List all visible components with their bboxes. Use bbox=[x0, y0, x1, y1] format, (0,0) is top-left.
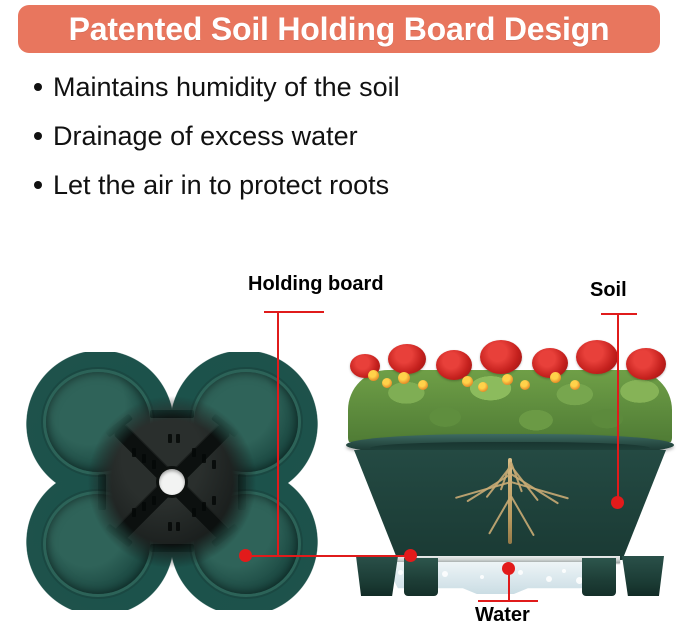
board-perforation bbox=[176, 434, 180, 443]
list-item: Let the air in to protect roots bbox=[28, 168, 588, 203]
flower-cluster bbox=[344, 330, 676, 442]
water-droplet bbox=[398, 570, 403, 575]
water-droplet bbox=[480, 575, 484, 579]
board-perforation bbox=[212, 460, 216, 469]
center-drain-hole bbox=[159, 469, 185, 495]
flower-bloom bbox=[576, 340, 618, 374]
water-droplet bbox=[562, 569, 566, 573]
board-perforation bbox=[132, 448, 136, 457]
board-perforation bbox=[192, 508, 196, 517]
feature-text: Let the air in to protect roots bbox=[53, 168, 389, 203]
board-perforation bbox=[202, 454, 206, 463]
board-vent bbox=[98, 474, 106, 510]
feature-text: Drainage of excess water bbox=[53, 119, 358, 154]
water-droplet bbox=[442, 571, 448, 577]
flower-bud bbox=[418, 380, 428, 390]
page-title: Patented Soil Holding Board Design bbox=[69, 13, 610, 45]
leader-dot-holding-board-right bbox=[404, 549, 417, 562]
callout-label-holding-board: Holding board bbox=[248, 274, 384, 294]
leader-stem-holding-board bbox=[277, 311, 279, 556]
flower-bud bbox=[478, 382, 488, 392]
board-perforation bbox=[212, 496, 216, 505]
flower-bud bbox=[550, 372, 561, 383]
board-perforation bbox=[152, 460, 156, 469]
flower-bloom bbox=[388, 344, 426, 374]
water-droplet bbox=[518, 570, 523, 575]
flower-bud bbox=[462, 376, 473, 387]
flower-bud bbox=[382, 378, 392, 388]
list-item: Drainage of excess water bbox=[28, 119, 588, 154]
leader-dot-holding-board-left bbox=[239, 549, 252, 562]
header-banner: Patented Soil Holding Board Design bbox=[18, 5, 660, 53]
board-perforation bbox=[192, 448, 196, 457]
leader-dot-soil bbox=[611, 496, 624, 509]
bullet-dot-icon bbox=[34, 132, 42, 140]
flower-bloom bbox=[480, 340, 522, 374]
board-vent bbox=[150, 410, 194, 418]
bullet-dot-icon bbox=[34, 83, 42, 91]
callout-label-soil: Soil bbox=[590, 280, 627, 300]
board-perforation bbox=[176, 522, 180, 531]
leader-stem-soil bbox=[617, 313, 619, 503]
leader-cross-holding-board bbox=[246, 555, 416, 557]
board-perforation bbox=[168, 522, 172, 531]
soil-layer bbox=[371, 456, 649, 554]
flower-bud bbox=[398, 372, 410, 384]
flower-bud bbox=[570, 380, 580, 390]
board-vent bbox=[238, 474, 246, 510]
board-perforation bbox=[132, 508, 136, 517]
flower-bloom bbox=[626, 348, 666, 380]
infographic-canvas: Patented Soil Holding Board Design Maint… bbox=[0, 0, 679, 635]
feature-list: Maintains humidity of the soil Drainage … bbox=[28, 70, 588, 217]
planter-foot bbox=[404, 558, 438, 596]
planter-foot bbox=[582, 558, 616, 596]
holding-board-insert bbox=[88, 396, 256, 568]
leader-stem-water bbox=[508, 568, 510, 602]
callout-label-water: Water bbox=[475, 605, 530, 625]
planter-foot bbox=[356, 556, 398, 596]
feature-text: Maintains humidity of the soil bbox=[53, 70, 400, 105]
leader-bar-soil bbox=[601, 313, 637, 315]
list-item: Maintains humidity of the soil bbox=[28, 70, 588, 105]
planter-foot bbox=[622, 556, 664, 596]
board-perforation bbox=[168, 434, 172, 443]
water-droplet bbox=[546, 576, 552, 582]
board-vent bbox=[150, 544, 194, 552]
flower-bud bbox=[368, 370, 379, 381]
flower-bud bbox=[520, 380, 530, 390]
board-perforation bbox=[142, 454, 146, 463]
leader-bar-holding-board bbox=[264, 311, 324, 313]
board-perforation bbox=[142, 502, 146, 511]
leader-bar-water bbox=[478, 600, 538, 602]
bullet-dot-icon bbox=[34, 181, 42, 189]
board-perforation bbox=[152, 496, 156, 505]
flower-bud bbox=[502, 374, 513, 385]
board-perforation bbox=[202, 502, 206, 511]
root-branch bbox=[510, 496, 535, 537]
